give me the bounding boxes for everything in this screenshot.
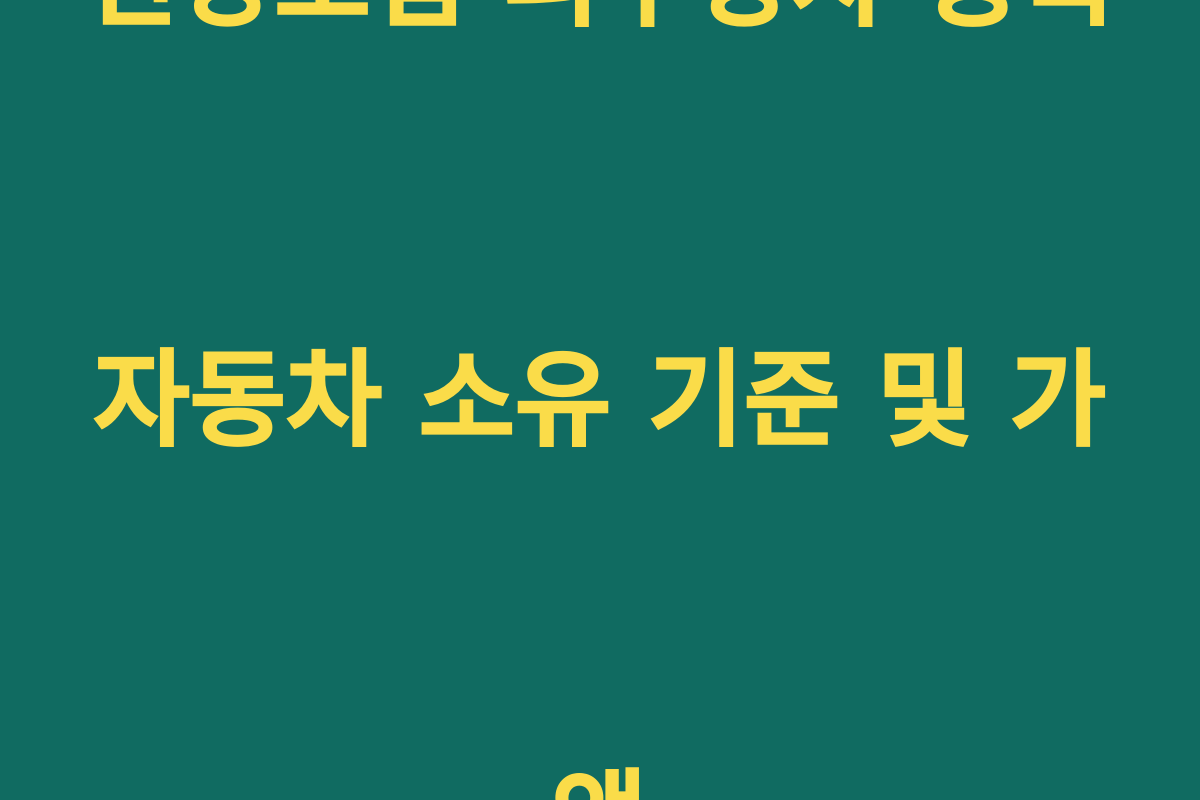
page-title: 건강보험 피부양자 등록 자동차 소유 기준 및 가 액 (50, 0, 1150, 800)
title-line-2: 자동차 소유 기준 및 가 (50, 330, 1150, 470)
title-line-1: 건강보험 피부양자 등록 (50, 0, 1150, 50)
title-banner: 건강보험 피부양자 등록 자동차 소유 기준 및 가 액 (0, 0, 1200, 800)
title-line-3: 액 (50, 750, 1150, 800)
